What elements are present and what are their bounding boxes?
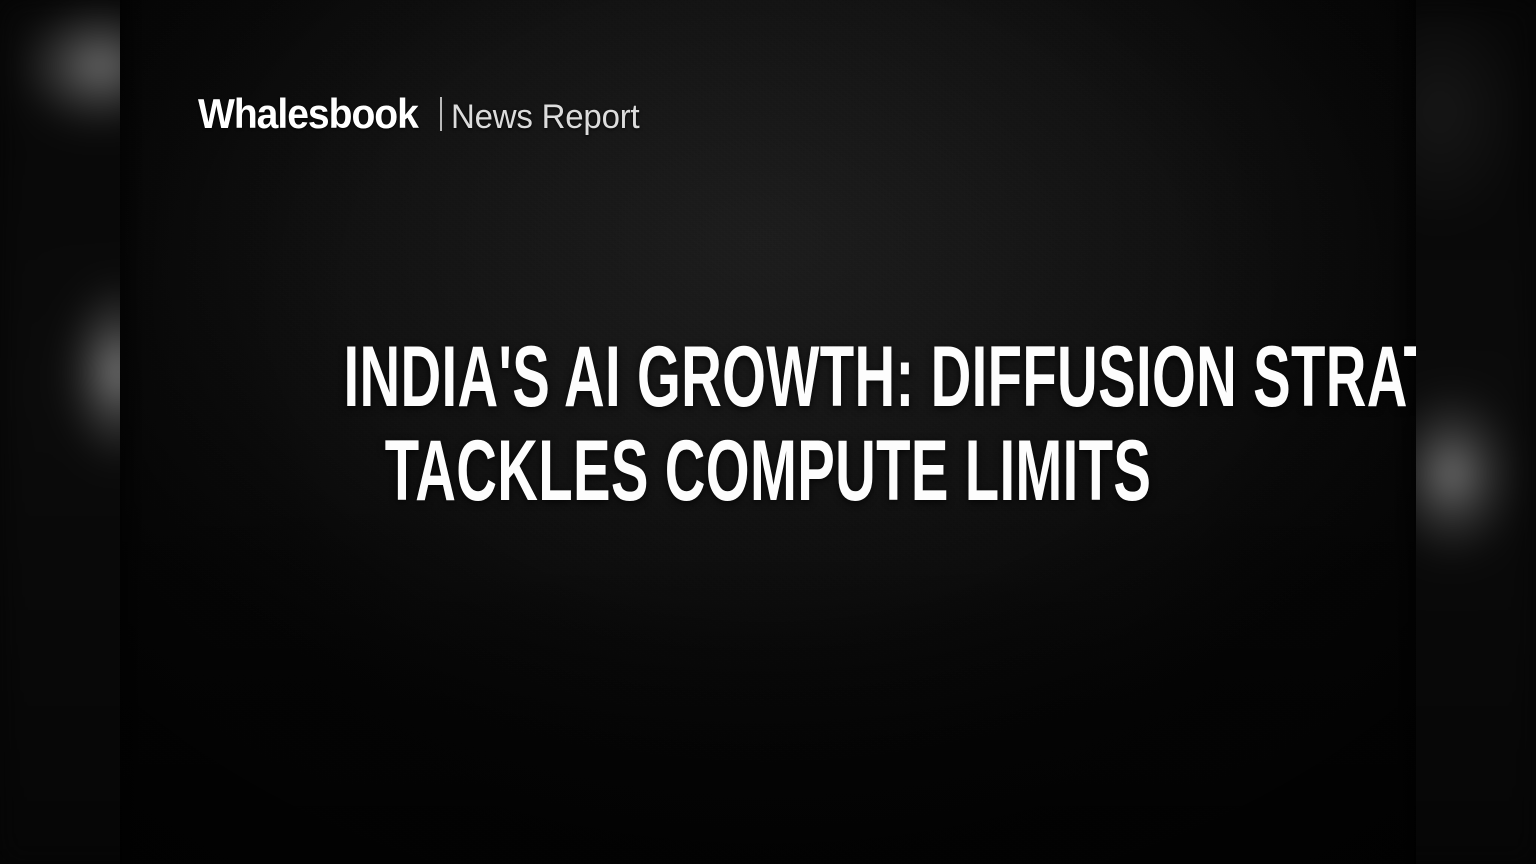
brand-name: Whalesbook [198, 93, 418, 135]
brand-subtitle: News Report [451, 100, 639, 134]
headline-line-2: Tackles Compute Limits [344, 424, 1193, 518]
brand-lockup[interactable]: Whalesbook News Report [198, 93, 646, 135]
news-card: Whalesbook News Report India's AI Growth… [0, 0, 1536, 864]
brand-divider-icon [440, 97, 442, 131]
headline-line-1: India's AI Growth: Diffusion Strategy [344, 330, 1193, 424]
content-panel: Whalesbook News Report India's AI Growth… [120, 0, 1416, 864]
headline: India's AI Growth: Diffusion Strategy Ta… [120, 330, 1416, 518]
